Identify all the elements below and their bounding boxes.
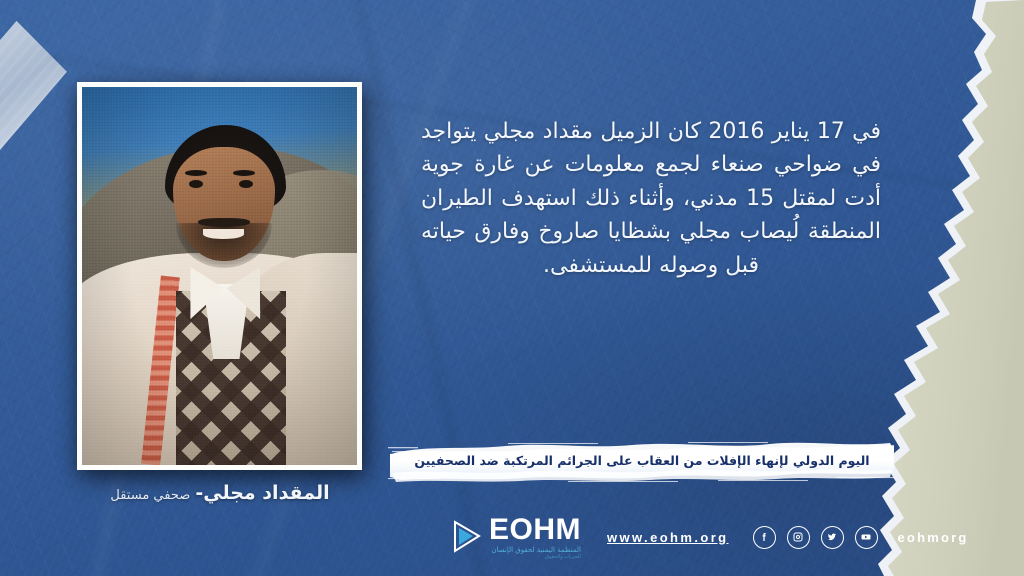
youtube-icon[interactable] [855,526,878,549]
subject-role: صحفي مستقل [110,488,190,503]
poster-canvas: المقداد مجلي- صحفي مستقل في 17 يناير 201… [0,0,1024,576]
logo-wordmark: EOHM [489,515,581,545]
footer-bar: EOHM المنظمة اليمنية لحقوق الإنسان للحري… [452,506,969,568]
eohm-logo[interactable]: EOHM المنظمة اليمنية لحقوق الإنسان للحري… [452,515,581,560]
torn-paper-edge [854,0,1024,576]
play-triangle-icon [452,520,482,554]
story-paragraph: في 17 يناير 2016 كان الزميل مقداد مجلي ي… [421,115,881,282]
banner-label: اليوم الدولي لإنهاء الإفلات من العقاب عل… [388,437,896,483]
portrait-photo [82,87,357,465]
subject-name-caption: المقداد مجلي- صحفي مستقل [70,482,370,504]
facebook-icon[interactable] [753,526,776,549]
instagram-icon[interactable] [787,526,810,549]
portrait-photo-frame [77,82,362,470]
masking-tape [0,18,73,294]
website-url[interactable]: www.eohm.org [607,530,729,545]
logo-subtitle-ar: المنظمة اليمنية لحقوق الإنسان [489,547,581,554]
social-links [753,526,878,549]
subject-name: المقداد مجلي- [195,482,329,504]
twitter-icon[interactable] [821,526,844,549]
brush-banner: اليوم الدولي لإنهاء الإفلات من العقاب عل… [388,437,896,483]
logo-subtitle-ar-2: للحريات والحقوق [489,555,581,560]
social-handle: eohmorg [898,530,969,545]
